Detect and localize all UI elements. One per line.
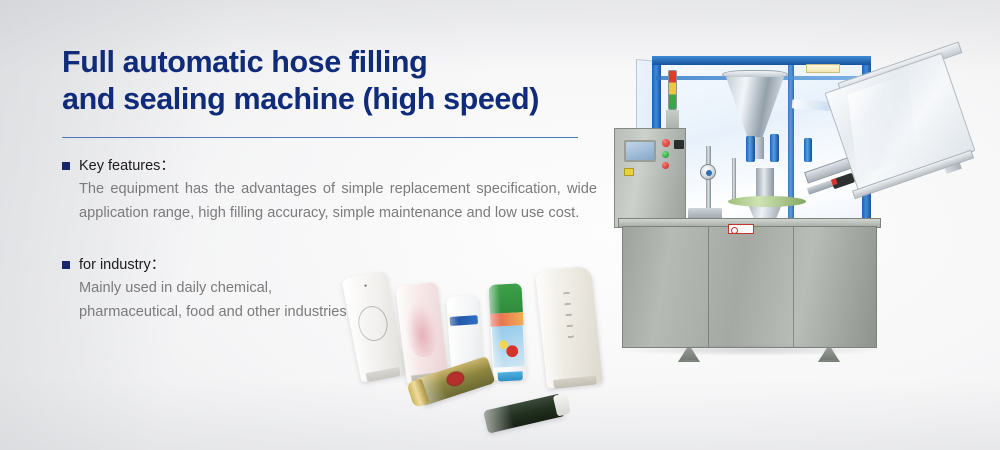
machine-shadow	[618, 344, 886, 356]
title-divider	[62, 137, 578, 138]
warning-label	[728, 224, 754, 234]
cabinet-door-seam	[793, 227, 794, 347]
pneumatic-cylinder	[770, 134, 779, 162]
page-title-line-2: and sealing machine (high speed)	[62, 81, 602, 118]
square-bullet-icon	[62, 261, 70, 269]
feature-text-key-features: The equipment has the advantages of simp…	[79, 178, 597, 225]
bullet-row: for industry：	[62, 256, 602, 274]
stop-button[interactable]	[662, 162, 669, 169]
feature-block-key-features: Key features： The equipment has the adva…	[62, 157, 602, 225]
tube-cap	[497, 371, 523, 381]
square-bullet-icon	[62, 162, 70, 170]
ce-warning-label-icon	[624, 168, 634, 176]
pneumatic-cylinder	[804, 138, 812, 162]
feature-label-for-industry: for industry：	[79, 256, 165, 274]
feature-label-key-features: Key features：	[79, 157, 175, 175]
base-cabinet	[622, 226, 877, 348]
tube-emblem	[443, 369, 467, 390]
page-title-line-1: Full automatic hose filling	[62, 44, 602, 81]
cabinet-door-seam	[708, 227, 709, 347]
product-banner: Full automatic hose filling and sealing …	[0, 0, 1000, 450]
stack-light-icon	[668, 70, 677, 110]
hmi-touchscreen[interactable]	[624, 140, 656, 162]
page-title: Full automatic hose filling and sealing …	[62, 44, 602, 118]
tube-artwork	[492, 325, 524, 367]
emergency-stop-button[interactable]	[662, 139, 670, 147]
start-button[interactable]	[662, 151, 669, 158]
safety-label-top	[806, 64, 840, 73]
rotary-turret-plate	[728, 196, 806, 207]
pneumatic-cylinder	[746, 136, 755, 162]
feature-text-for-industry: Mainly used in daily chemical, pharmaceu…	[79, 277, 347, 324]
pressure-gauge-icon	[700, 164, 716, 180]
machine-image	[600, 18, 1000, 410]
power-switch-icon[interactable]	[831, 178, 838, 185]
bullet-row: Key features：	[62, 157, 602, 175]
frame-post-middle	[788, 58, 794, 234]
text-column: Full automatic hose filling and sealing …	[62, 44, 602, 324]
selector-switch[interactable]	[674, 140, 684, 149]
tube-dark-green	[483, 394, 564, 434]
feature-block-for-industry: for industry： Mainly used in daily chemi…	[62, 256, 602, 324]
tube-body	[483, 394, 564, 434]
